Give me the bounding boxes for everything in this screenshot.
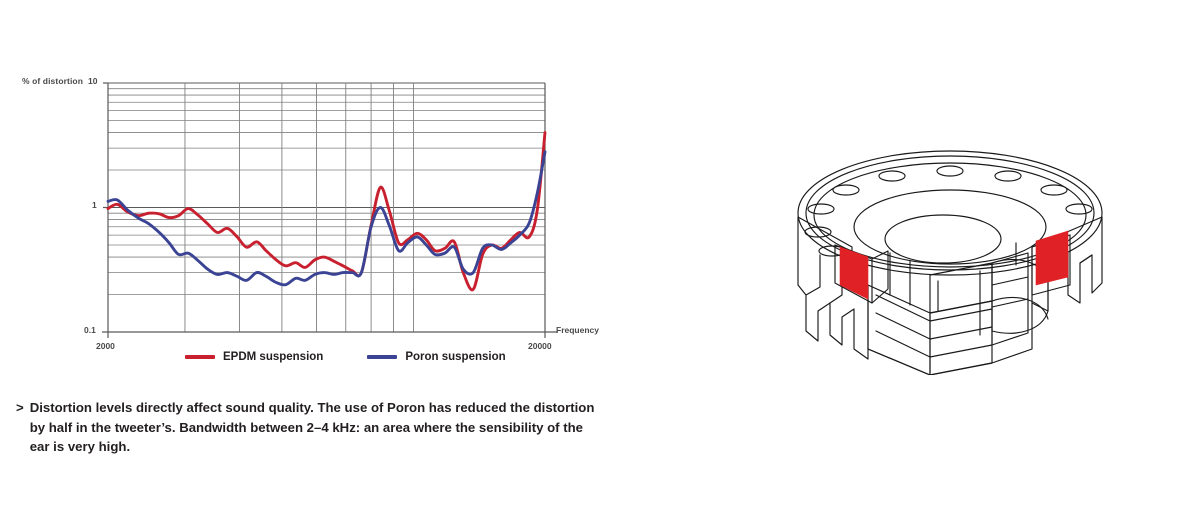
mounting-hole: [833, 185, 859, 195]
plate-seam-2: [876, 313, 992, 339]
grid-minor-horizontal: [108, 89, 545, 332]
distortion-line-chart: [0, 60, 620, 360]
y-tick-0.1: 0.1: [84, 325, 96, 335]
right-wall-edge: [1080, 255, 1092, 263]
legend-swatch-poron-icon: [367, 355, 397, 359]
waveguide-opening: [854, 190, 1046, 264]
plate-seam-1: [876, 295, 992, 321]
chassis-lower-edge: [930, 303, 1032, 375]
gap-seam-b: [992, 299, 1028, 307]
y-axis-label: % of distortion: [22, 76, 83, 86]
gap-seam-a: [992, 277, 1028, 285]
x-axis-label: Frequency: [556, 325, 599, 335]
series-line-epdm: [108, 133, 545, 290]
chart-series-layer: [108, 133, 545, 290]
mounting-hole: [1066, 204, 1092, 214]
legend-label-poron: Poron suspension: [405, 351, 505, 363]
caption-left: > Distortion levels directly affect soun…: [16, 398, 596, 457]
chevron-right-icon: >: [16, 398, 24, 457]
mounting-hole: [1041, 185, 1067, 195]
x-tick-2000: 2000: [96, 341, 115, 351]
tweeter-diagram-panel: > Cross-section of the TNF tweeter. Poro…: [620, 0, 1200, 527]
distortion-chart-panel: % of distortion 10 1 0.1 Frequency 2000 …: [0, 0, 620, 527]
mounting-hole: [879, 171, 905, 181]
y-tick-10: 10: [88, 76, 97, 86]
tweeter-cross-section-illustration: [780, 135, 1120, 375]
legend-swatch-epdm-icon: [185, 355, 215, 359]
magnet-plate-mid: [930, 301, 992, 375]
y-tick-1: 1: [92, 200, 97, 210]
left-wall-edge: [806, 255, 820, 295]
legend-item-poron: Poron suspension: [367, 351, 505, 363]
x-tick-20000: 20000: [528, 341, 552, 351]
plate-seam-3: [876, 331, 992, 357]
chart-legend: EPDM suspension Poron suspension: [185, 351, 506, 363]
chart-axes: [102, 83, 557, 338]
tweeter-svg: [780, 135, 1120, 375]
mounting-hole: [995, 171, 1021, 181]
caption-left-text: Distortion levels directly affect sound …: [30, 398, 596, 457]
legend-label-epdm: EPDM suspension: [223, 351, 323, 363]
pole-piece-top: [930, 263, 992, 313]
mounting-hole: [937, 166, 963, 176]
chart-plot-area: [0, 60, 620, 360]
dome-aperture: [885, 215, 1001, 263]
mounting-hole: [808, 204, 834, 214]
legend-item-epdm: EPDM suspension: [185, 351, 323, 363]
